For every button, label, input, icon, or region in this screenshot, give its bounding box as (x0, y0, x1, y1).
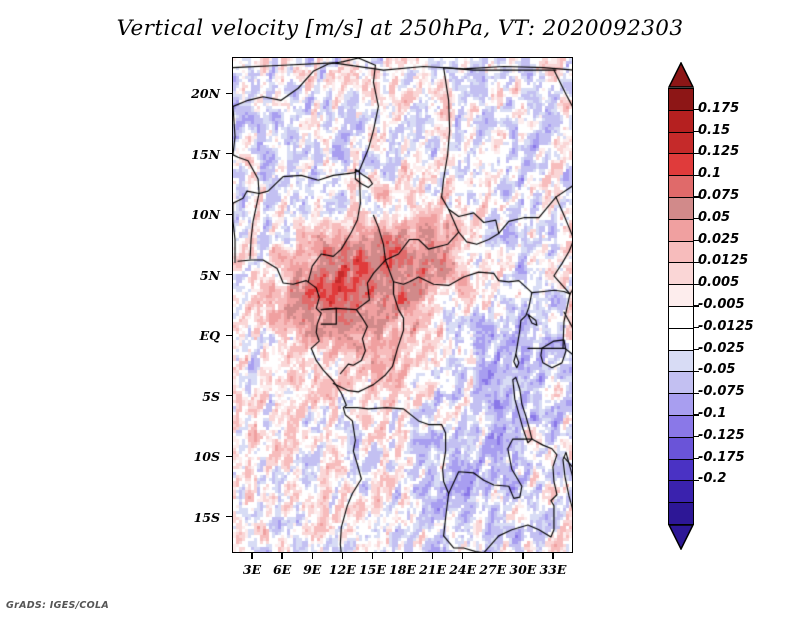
colorbar-swatch (668, 153, 694, 176)
colorbar-label: -0.175 (698, 450, 745, 465)
colorbar-swatch (668, 328, 694, 351)
colorbar-tick (694, 196, 699, 197)
colorbar-swatch (668, 502, 694, 525)
colorbar-swatch (668, 219, 694, 242)
colorbar-label: 0.175 (698, 101, 739, 116)
colorbar-swatch (668, 480, 694, 503)
y-axis-label: 15S (180, 510, 220, 525)
colorbar-tick (694, 262, 699, 263)
y-axis-label: 5S (180, 389, 220, 404)
y-axis-tick (226, 335, 232, 336)
colorbar-top-arrow (668, 62, 694, 88)
colorbar-label: 0.0125 (698, 253, 748, 268)
colorbar-swatch (668, 393, 694, 416)
y-axis-label: EQ (180, 328, 220, 343)
map-plot-area (232, 57, 573, 553)
y-axis-label: 10S (180, 449, 220, 464)
colorbar-label: 0.075 (698, 188, 739, 203)
colorbar-tick (694, 240, 699, 241)
colorbar-tick (694, 218, 699, 219)
colorbar-tick (694, 305, 699, 306)
colorbar-swatch (668, 459, 694, 482)
y-axis-label: 15N (180, 147, 220, 162)
x-axis-tick (312, 553, 313, 559)
colorbar-label: 0.005 (698, 275, 739, 290)
colorbar-swatch (668, 262, 694, 285)
colorbar-tick (694, 414, 699, 415)
colorbar-swatch (668, 371, 694, 394)
y-axis-label: 10N (180, 207, 220, 222)
grads-credit: GrADS: IGES/COLA (6, 600, 109, 611)
x-axis-tick (372, 553, 373, 559)
x-axis-tick (492, 553, 493, 559)
y-axis-tick (226, 516, 232, 517)
y-axis-label: 5N (180, 268, 220, 283)
x-axis-tick (522, 553, 523, 559)
x-axis-tick (281, 553, 282, 559)
y-axis-tick (226, 93, 232, 94)
colorbar-tick (694, 327, 699, 328)
colorbar-label: 0.1 (698, 166, 721, 181)
colorbar-label: -0.075 (698, 384, 745, 399)
colorbar-label: 0.15 (698, 123, 730, 138)
x-axis-tick (552, 553, 553, 559)
colorbar-swatch (668, 110, 694, 133)
country-borders-overlay (233, 58, 573, 553)
colorbar-label: -0.005 (698, 297, 745, 312)
colorbar-tick (694, 371, 699, 372)
y-axis-tick (226, 395, 232, 396)
colorbar-label: -0.05 (698, 362, 735, 377)
y-axis-label: 20N (180, 86, 220, 101)
colorbar-tick (694, 284, 699, 285)
colorbar-swatch (668, 88, 694, 111)
x-axis-tick (432, 553, 433, 559)
colorbar-tick (694, 175, 699, 176)
x-axis-tick (462, 553, 463, 559)
colorbar-swatch (668, 415, 694, 438)
colorbar-label: -0.1 (698, 406, 726, 421)
colorbar-tick (694, 393, 699, 394)
y-axis-tick (226, 214, 232, 215)
colorbar-label: 0.025 (698, 232, 739, 247)
colorbar-label: -0.125 (698, 428, 745, 443)
colorbar-swatch (668, 197, 694, 220)
colorbar-swatch (668, 437, 694, 460)
x-axis-tick (402, 553, 403, 559)
colorbar-tick (694, 349, 699, 350)
colorbar-label: -0.0125 (698, 319, 754, 334)
colorbar-tick (694, 480, 699, 481)
colorbar-tick (694, 153, 699, 154)
colorbar-tick (694, 131, 699, 132)
colorbar-swatch (668, 132, 694, 155)
colorbar-swatch (668, 241, 694, 264)
x-axis-label: 33E (533, 562, 573, 577)
y-axis-tick (226, 153, 232, 154)
colorbar-label: -0.2 (698, 471, 726, 486)
colorbar-tick (694, 109, 699, 110)
colorbar-tick (694, 436, 699, 437)
colorbar: 0.1750.150.1250.10.0750.050.0250.01250.0… (668, 62, 694, 550)
x-axis-tick (342, 553, 343, 559)
colorbar-swatch (668, 350, 694, 373)
page-title: Vertical velocity [m/s] at 250hPa, VT: 2… (0, 16, 800, 41)
x-axis-tick (251, 553, 252, 559)
y-axis-tick (226, 456, 232, 457)
colorbar-swatch (668, 306, 694, 329)
colorbar-tick (694, 458, 699, 459)
colorbar-label: -0.025 (698, 341, 745, 356)
colorbar-label: 0.125 (698, 144, 739, 159)
y-axis-tick (226, 274, 232, 275)
colorbar-swatch (668, 175, 694, 198)
colorbar-bottom-arrow (668, 524, 694, 550)
colorbar-swatch (668, 284, 694, 307)
colorbar-label: 0.05 (698, 210, 730, 225)
